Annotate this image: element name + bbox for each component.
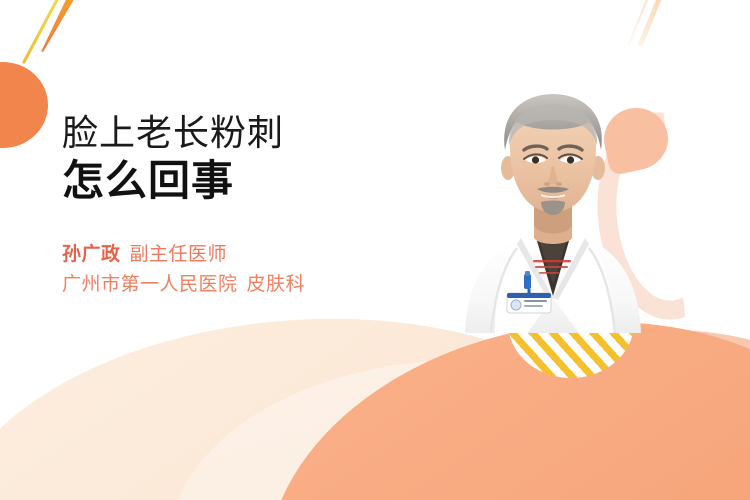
doctor-name: 孙广政: [62, 244, 121, 265]
doctor-credentials: 孙广政副主任医师 广州市第一人民医院皮肤科: [62, 240, 462, 301]
diagonal-stripe-icon: [22, 0, 61, 64]
diagonal-stripe-icon: [39, 0, 80, 54]
video-thumbnail-card: 脸上老长粉刺 怎么回事 孙广政副主任医师 广州市第一人民医院皮肤科: [0, 0, 750, 500]
doctor-hospital: 广州市第一人民医院: [62, 274, 238, 295]
orange-circle-icon: [0, 62, 48, 148]
doctor-rank: 副主任医师: [130, 244, 228, 265]
doctor-department: 皮肤科: [247, 274, 306, 295]
doctor-portrait-image: [455, 88, 650, 333]
doctor-name-row: 孙广政副主任医师: [62, 240, 462, 270]
page-title-line-1: 脸上老长粉刺: [62, 112, 462, 154]
text-content-block: 脸上老长粉刺 怎么回事 孙广政副主任医师 广州市第一人民医院皮肤科: [62, 112, 462, 301]
doctor-affiliation-row: 广州市第一人民医院皮肤科: [62, 270, 462, 300]
page-title-line-2: 怎么回事: [62, 156, 462, 206]
